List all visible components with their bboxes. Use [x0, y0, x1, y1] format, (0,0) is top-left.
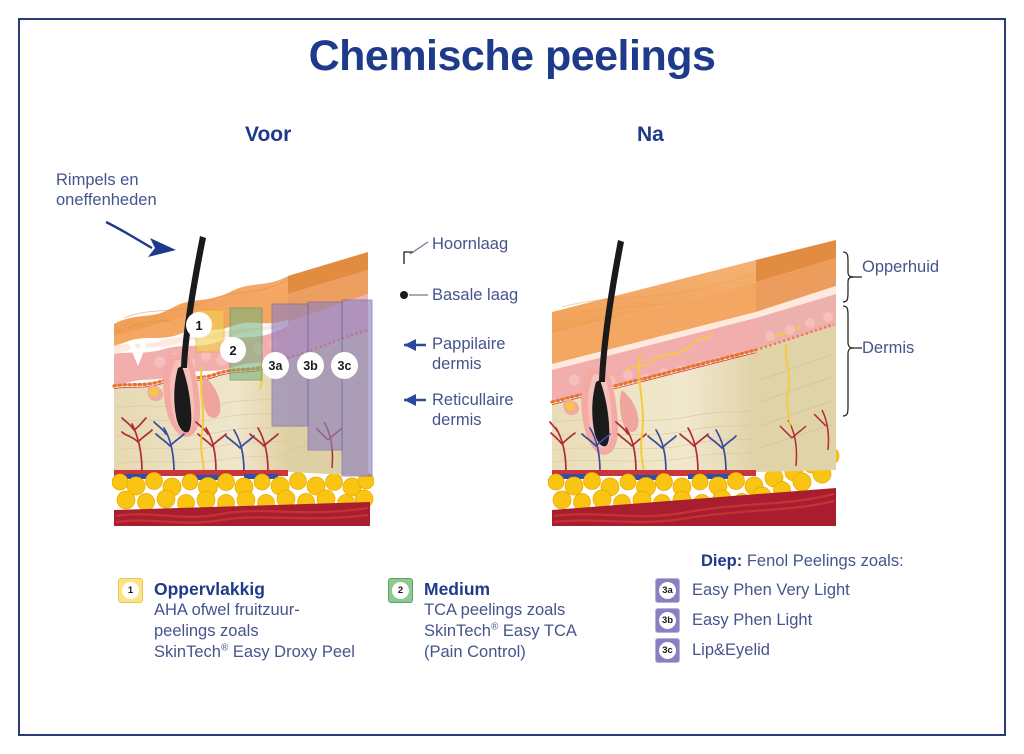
annotation-basal-layer: Basale laag [432, 285, 518, 305]
legend-badge-3b: 3b [655, 608, 680, 633]
brand-skintech: SkinTech [154, 643, 221, 661]
legend-medium-line1: TCA peelings zoals [424, 600, 577, 621]
legend-medium-line2: SkinTech® Easy TCA [424, 621, 577, 642]
infographic-page: Chemische peelings Voor Na [0, 0, 1024, 754]
depth-marker-1: 1 [186, 312, 212, 338]
legend-superficial: 1 Oppervlakkig AHA ofwel fruitzuur- peel… [118, 578, 378, 663]
depth-marker-3c: 3c [331, 352, 358, 379]
section-label-before: Voor [245, 123, 291, 147]
legend-medium-line3: (Pain Control) [424, 642, 577, 663]
legend-deep-item: 3a Easy Phen Very Light [655, 578, 965, 603]
page-title: Chemische peelings [0, 32, 1024, 81]
legend-badge-2: 2 [388, 578, 413, 603]
legend-deep-item: 3c Lip&Eyelid [655, 638, 965, 663]
annotation-reticular-dermis: Reticullaire dermis [432, 390, 562, 430]
legend-superficial-line3: SkinTech® Easy Droxy Peel [154, 642, 355, 663]
legend-medium: 2 Medium TCA peelings zoals SkinTech® Ea… [388, 578, 633, 663]
legend-badge-3a-number: 3a [659, 582, 676, 599]
skin-diagram-before [112, 236, 374, 528]
legend-badge-3b-number: 3b [659, 612, 676, 629]
annotation-horny-layer: Hoornlaag [432, 234, 508, 254]
legend-badge-3c: 3c [655, 638, 680, 663]
legend-deep-item: 3b Easy Phen Light [655, 608, 965, 633]
depth-marker-2: 2 [220, 337, 246, 363]
legend-badge-2-number: 2 [392, 582, 409, 599]
depth-marker-3a: 3a [262, 352, 289, 379]
annotation-epidermis-bracket: Opperhuid [862, 257, 939, 277]
legend-deep-label-3b: Easy Phen Light [692, 610, 812, 631]
legend-superficial-product: Easy Droxy Peel [228, 643, 355, 661]
skin-diagram-after [548, 240, 840, 528]
legend-deep-header-bold: Diep: [701, 552, 742, 570]
legend-badge-1-number: 1 [122, 582, 139, 599]
brand-skintech-medium: SkinTech [424, 622, 491, 640]
legend-deep-header: Diep: Fenol Peelings zoals: [701, 552, 965, 571]
section-label-after: Na [637, 123, 664, 147]
legend-superficial-line2: peelings zoals [154, 621, 355, 642]
annotation-dermis-bracket: Dermis [862, 338, 914, 358]
annotation-wrinkles: Rimpels en oneffenheden [56, 170, 236, 210]
legend-deep-label-3c: Lip&Eyelid [692, 640, 770, 661]
legend-medium-title: Medium [424, 579, 577, 600]
legend-deep-label-3a: Easy Phen Very Light [692, 580, 850, 601]
legend-superficial-line1: AHA ofwel fruitzuur- [154, 600, 355, 621]
legend-medium-product: Easy TCA [498, 622, 577, 640]
legend-superficial-title: Oppervlakkig [154, 579, 355, 600]
legend-badge-1: 1 [118, 578, 143, 603]
legend-badge-3a: 3a [655, 578, 680, 603]
legend-badge-3c-number: 3c [659, 642, 676, 659]
annotation-papillary-dermis: Pappilaire dermis [432, 334, 552, 374]
legend-deep: Diep: Fenol Peelings zoals: 3a Easy Phen… [655, 552, 965, 668]
legend-deep-header-rest: Fenol Peelings zoals: [742, 552, 903, 570]
depth-marker-3b: 3b [297, 352, 324, 379]
